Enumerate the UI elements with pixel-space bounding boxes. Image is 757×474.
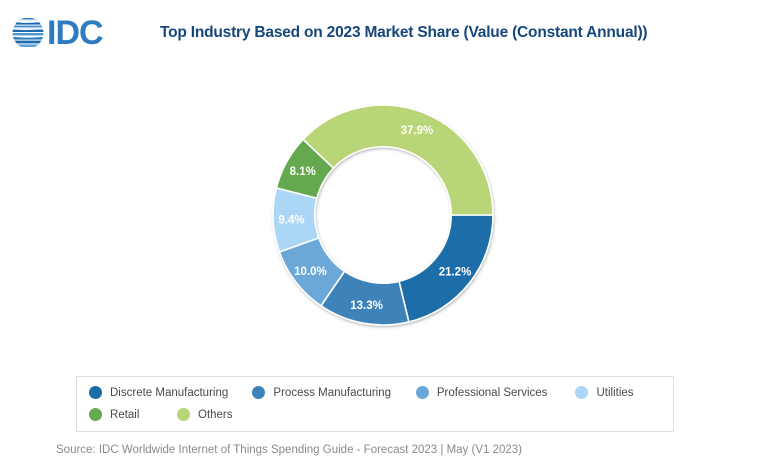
slice-value-label: 13.3% xyxy=(350,300,383,312)
legend-item[interactable]: Discrete Manufacturing xyxy=(89,386,252,399)
legend-color-swatch xyxy=(89,386,102,399)
legend-item-label: Professional Services xyxy=(437,387,548,399)
legend-item[interactable]: Professional Services xyxy=(416,386,576,399)
legend-row: RetailOthers xyxy=(89,408,661,421)
slice-value-label: 10.0% xyxy=(294,266,327,278)
slice-value-label: 37.9% xyxy=(401,125,434,137)
legend-color-swatch xyxy=(89,408,102,421)
donut-slice[interactable] xyxy=(303,105,493,215)
legend-row: Discrete ManufacturingProcess Manufactur… xyxy=(89,386,661,399)
legend-color-swatch xyxy=(177,408,190,421)
legend-item[interactable]: Utilities xyxy=(575,386,661,399)
legend-item-label: Others xyxy=(198,409,233,421)
chart-header: IDC Top Industry Based on 2023 Market Sh… xyxy=(0,0,757,62)
legend-item-label: Process Manufacturing xyxy=(273,387,391,399)
legend-item[interactable]: Process Manufacturing xyxy=(252,386,415,399)
legend-item[interactable]: Others xyxy=(177,408,277,421)
donut-chart: 21.2%13.3%10.0%9.4%8.1%37.9% xyxy=(270,100,500,330)
legend-item-label: Utilities xyxy=(596,387,633,399)
slice-value-label: 9.4% xyxy=(278,214,304,226)
legend-item[interactable]: Retail xyxy=(89,408,177,421)
donut-slices xyxy=(273,105,493,325)
idc-wordmark: IDC xyxy=(47,16,103,50)
legend-color-swatch xyxy=(575,386,588,399)
legend-color-swatch xyxy=(416,386,429,399)
globe-striped-icon xyxy=(10,16,46,50)
chart-legend: Discrete ManufacturingProcess Manufactur… xyxy=(76,376,674,432)
legend-color-swatch xyxy=(252,386,265,399)
legend-item-label: Retail xyxy=(110,409,139,421)
slice-value-label: 21.2% xyxy=(439,267,472,279)
idc-logo: IDC xyxy=(10,16,103,50)
source-note: Source: IDC Worldwide Internet of Things… xyxy=(56,444,522,456)
page-title: Top Industry Based on 2023 Market Share … xyxy=(160,24,647,42)
slice-value-label: 8.1% xyxy=(290,166,316,178)
donut-chart-svg: 21.2%13.3%10.0%9.4%8.1%37.9% xyxy=(270,100,500,330)
legend-item-label: Discrete Manufacturing xyxy=(110,387,228,399)
